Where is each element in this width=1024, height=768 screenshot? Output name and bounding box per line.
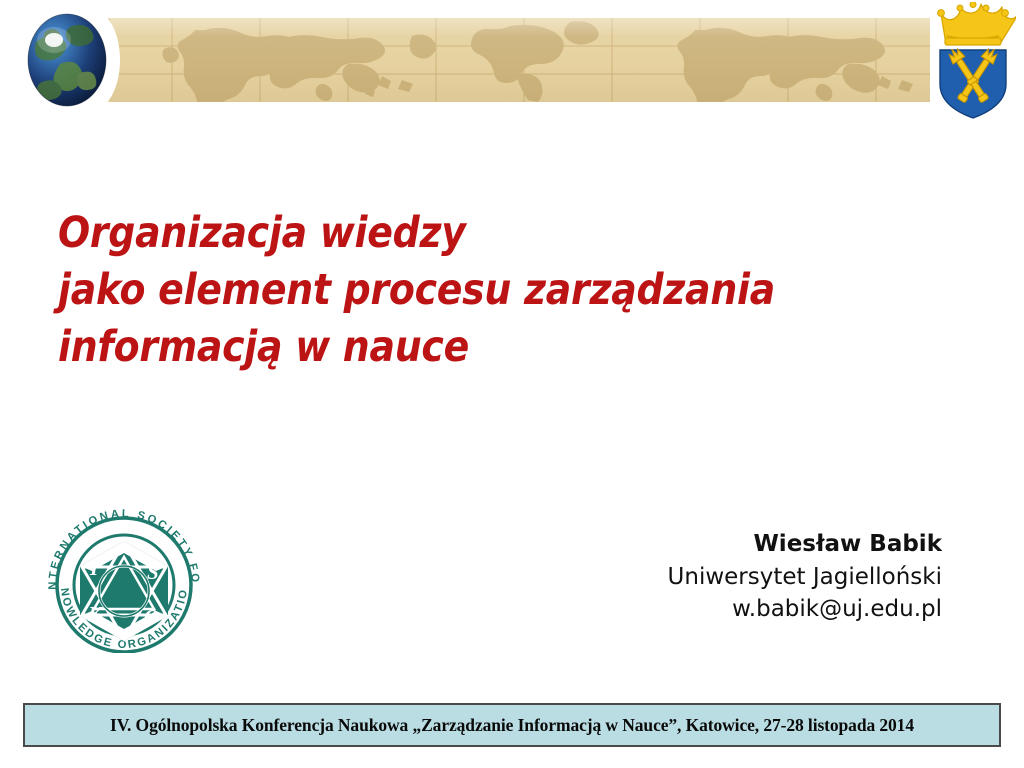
isko-letter-o: O [144,605,159,629]
isko-letter-i: I [89,556,99,580]
author-block: Wiesław Babik Uniwersytet Jagielloński w… [668,528,942,626]
author-name: Wiesław Babik [668,528,942,561]
author-email: w.babik@uj.edu.pl [668,593,942,626]
conference-footer-text: IV. Ogólnopolska Konferencja Naukowa „Za… [110,715,914,736]
slide-title: Organizacja wiedzy jako element procesu … [58,205,958,375]
title-line-1: Organizacja wiedzy [58,205,850,262]
jagiellonian-university-coat-of-arms [930,2,1016,120]
isko-logo: INTERNATIONAL SOCIETY FOR KNOWLEDGE ORGA… [34,505,214,653]
conference-footer-bar: IV. Ogólnopolska Konferencja Naukowa „Za… [23,703,1001,747]
globe-earth-icon [26,12,108,108]
author-affiliation: Uniwersytet Jagielloński [668,561,942,594]
isko-letter-k: K [87,602,104,626]
world-map-graphic [110,18,930,102]
title-line-2: jako element procesu zarządzania [58,262,850,319]
world-map-banner [110,18,930,102]
slide-header [0,0,1024,130]
crown-icon [938,2,1016,45]
slide-canvas: Organizacja wiedzy jako element procesu … [0,0,1024,768]
isko-letter-s: S [147,560,159,584]
title-line-3: informacją w nauce [58,319,850,376]
